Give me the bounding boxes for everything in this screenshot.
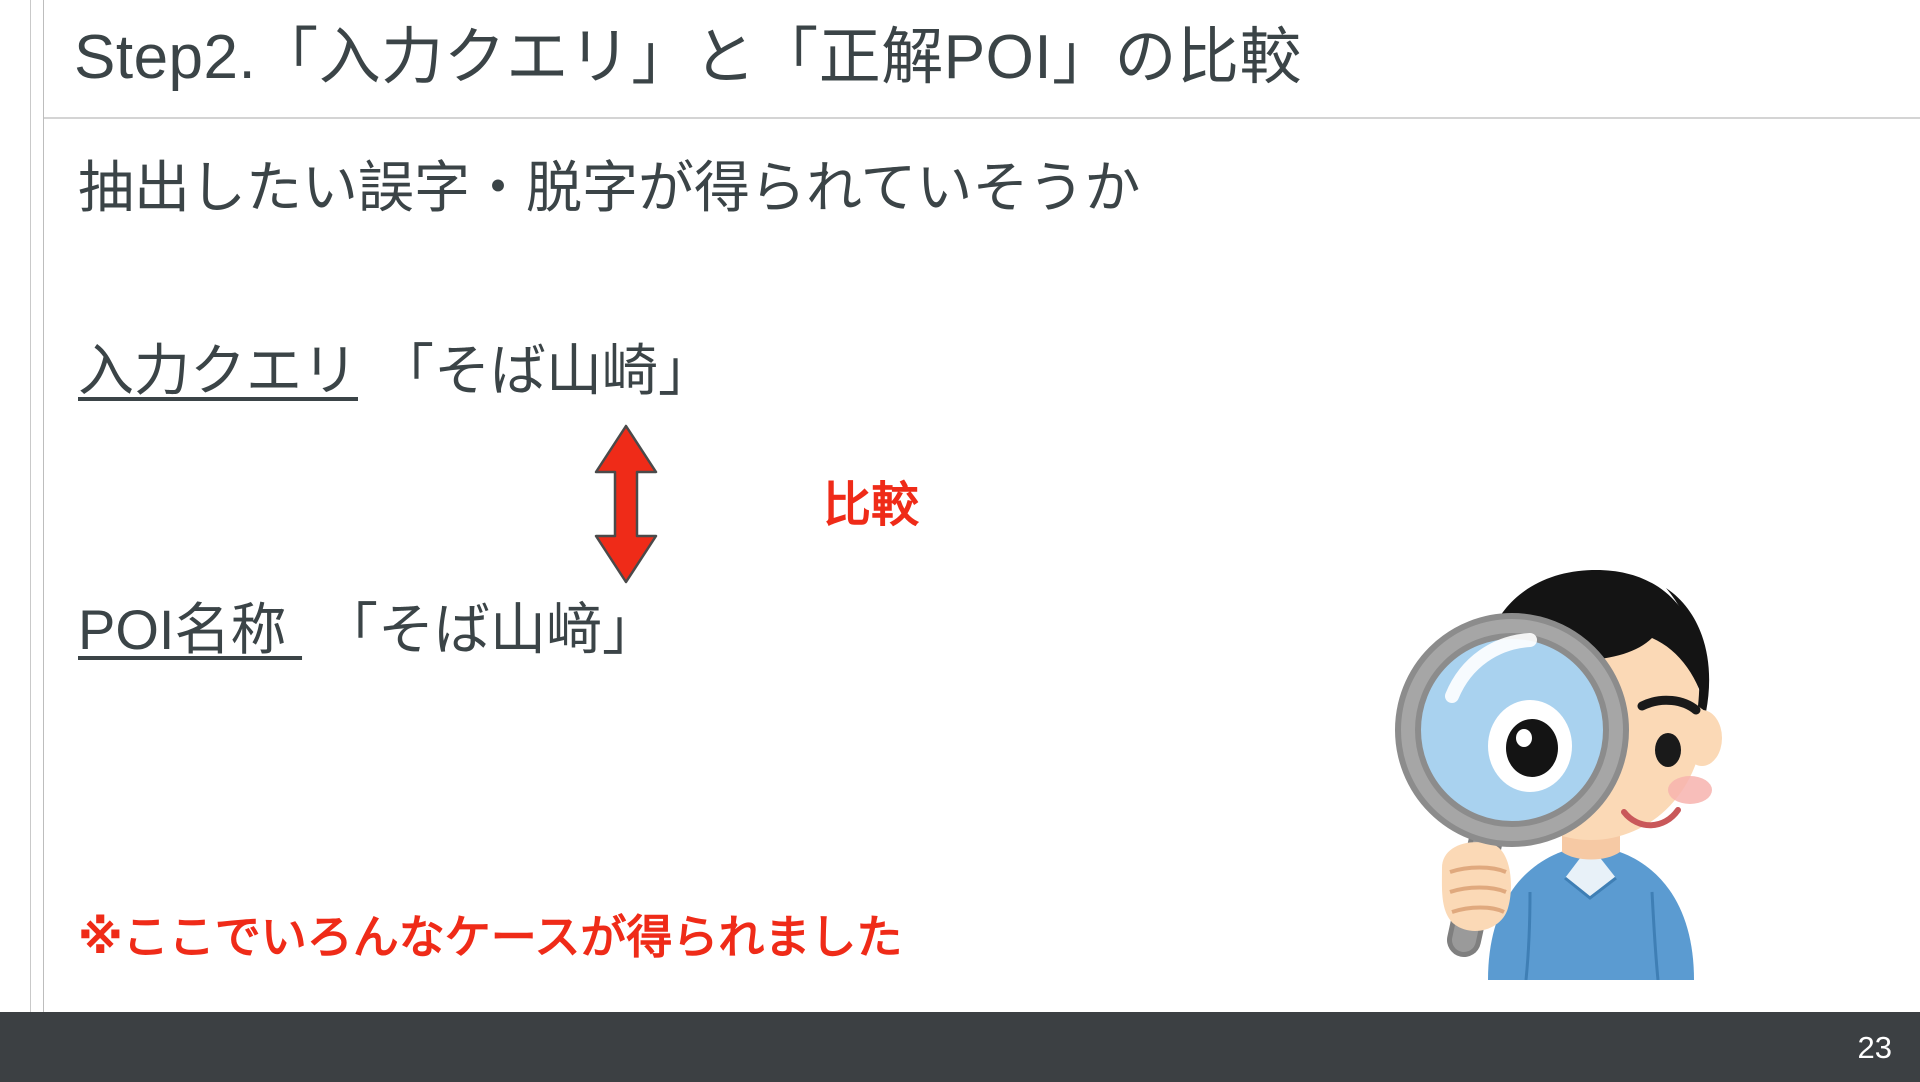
double-headed-arrow-icon bbox=[592, 424, 660, 584]
query-value: 「そば山崎」 bbox=[378, 339, 714, 402]
query-label: 入力クエリ bbox=[78, 339, 358, 402]
title-divider bbox=[44, 117, 1920, 119]
footer-bar: 23 bbox=[0, 1012, 1920, 1082]
page-title: Step2.「入力クエリ」と「正解POI」の比較 bbox=[74, 10, 1302, 106]
poi-value: 「そば山﨑」 bbox=[322, 598, 658, 661]
query-row: 入力クエリ「そば山崎」 bbox=[78, 335, 714, 407]
slide: Step2.「入力クエリ」と「正解POI」の比較 抽出したい誤字・脱字が得られて… bbox=[0, 0, 1920, 1082]
compare-label: 比較 bbox=[823, 477, 919, 535]
lead-text: 抽出したい誤字・脱字が得られていそうか bbox=[78, 152, 1140, 224]
person-with-magnifying-glass-illustration bbox=[1380, 500, 1800, 980]
left-rule-outer bbox=[30, 0, 31, 1030]
footnote-text: ※ここでいろんなケースが得られました bbox=[78, 908, 902, 966]
poi-label: POI名称 bbox=[78, 598, 302, 661]
left-rule-inner bbox=[43, 0, 44, 1030]
page-number: 23 bbox=[1858, 1030, 1892, 1066]
title-area: Step2.「入力クエリ」と「正解POI」の比較 bbox=[44, 0, 1920, 117]
poi-row: POI名称 「そば山﨑」 bbox=[78, 594, 658, 666]
